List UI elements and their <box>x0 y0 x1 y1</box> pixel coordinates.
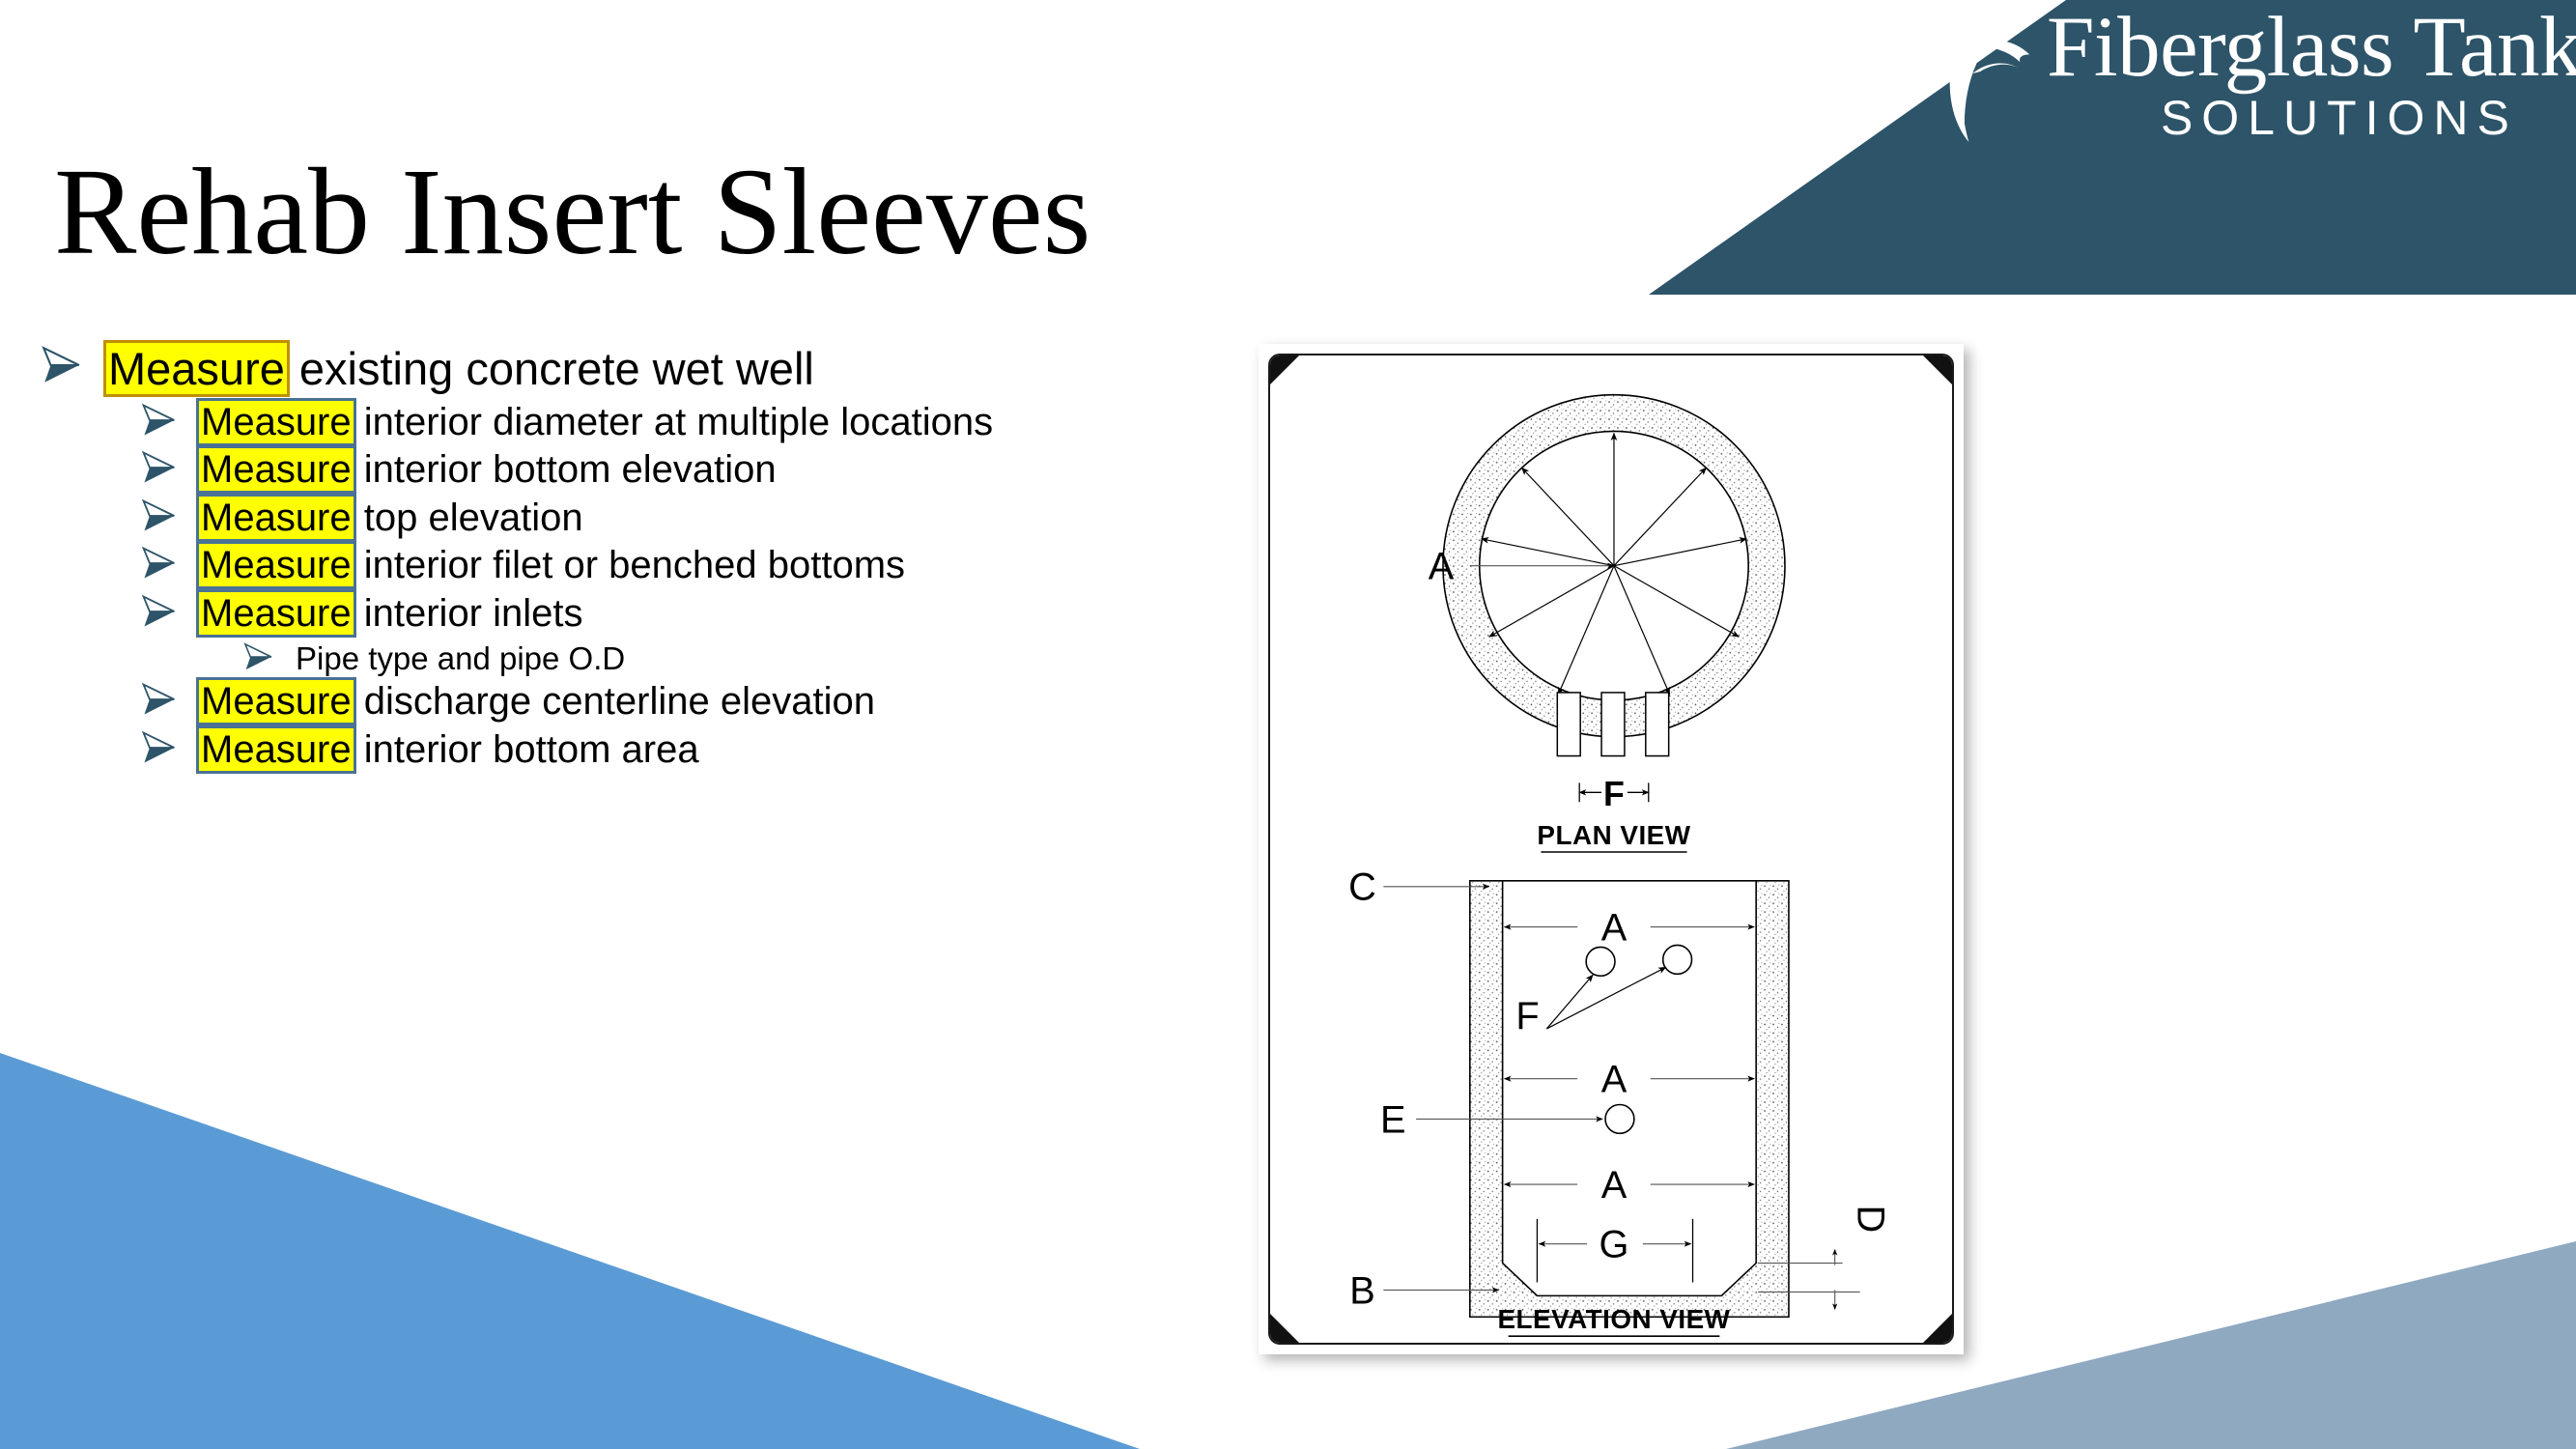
bullet-item-label: Measure interior diameter at multiple lo… <box>199 401 993 445</box>
fiberglass-tank-leaf-icon <box>1931 12 2045 147</box>
logo-secondary-text: SOLUTIONS <box>2161 94 2518 142</box>
bullet-item-rest: Pipe type and pipe O.D <box>296 640 625 676</box>
bullet-item-rest: interior diameter at multiple locations <box>354 401 994 443</box>
highlighted-keyword: Measure <box>199 680 354 723</box>
elevation-label-filet: D <box>1850 1205 1892 1233</box>
bullet-item-label: Measure interior filet or benched bottom… <box>199 544 905 588</box>
logo-primary-text: Fiberglass Tank <box>2047 4 2576 92</box>
bullet-item-label: Pipe type and pipe O.D <box>296 640 625 677</box>
highlighted-keyword: Measure <box>199 448 354 491</box>
highlighted-keyword: Measure <box>199 497 354 539</box>
company-logo: Fiberglass Tank SOLUTIONS <box>1931 4 2576 147</box>
highlighted-keyword: Measure <box>199 544 354 586</box>
bullet-item-rest: discharge centerline elevation <box>354 680 875 723</box>
plan-label-pipe-width: F <box>1603 775 1625 813</box>
bullet-item: Measure interior filet or benched bottom… <box>39 544 1207 588</box>
elevation-label-diameter-1: A <box>1601 906 1628 949</box>
bullet-item: Measure interior bottom area <box>39 728 1207 773</box>
highlighted-keyword: Measure <box>199 592 354 635</box>
elevation-view-caption: ELEVATION VIEW <box>1498 1304 1731 1334</box>
bullet-item: Measure top elevation <box>39 497 1207 541</box>
bullet-item: Measure interior bottom elevation <box>39 448 1207 493</box>
bullet-item: Measure interior diameter at multiple lo… <box>39 401 1207 445</box>
slide-title: Rehab Insert Sleeves <box>54 147 1090 278</box>
highlighted-keyword: Measure <box>199 401 354 443</box>
bullet-item: Measure existing concrete wet well <box>39 343 1207 395</box>
bullet-arrow-icon <box>39 343 106 387</box>
bullet-arrow-icon <box>139 680 199 719</box>
bullet-item-rest: top elevation <box>354 497 583 539</box>
elevation-view-group: C B A <box>1348 867 1891 1336</box>
slide-canvas: Fiberglass Tank SOLUTIONS Rehab Insert S… <box>0 0 2576 1449</box>
bullet-item-label: Measure discharge centerline elevation <box>199 680 875 724</box>
bullet-item: Measure interior inlets <box>39 592 1207 637</box>
bullet-item-label: Measure interior bottom area <box>199 728 699 773</box>
plan-view-group: A F PLAN VIEW <box>1429 395 1785 852</box>
bullet-list: Measure existing concrete wet wellMeasur… <box>39 343 1207 776</box>
bullet-arrow-icon <box>139 497 199 535</box>
elevation-label-top: C <box>1348 867 1376 909</box>
bullet-arrow-icon <box>139 448 199 487</box>
highlighted-keyword: Measure <box>106 343 287 394</box>
elevation-label-inlets: F <box>1515 995 1539 1037</box>
elevation-label-bottom: B <box>1349 1269 1375 1312</box>
plan-label-diameter: A <box>1429 546 1455 588</box>
bullet-arrow-icon <box>139 401 199 440</box>
wet-well-diagram-image: A F PLAN VIEW <box>1259 344 1964 1354</box>
plan-view-caption: PLAN VIEW <box>1537 820 1690 850</box>
bottom-left-triangle-shape <box>0 1053 1140 1449</box>
bullet-arrow-icon <box>139 592 199 631</box>
bullet-item-rest: interior inlets <box>354 592 583 635</box>
bullet-item-rest: existing concrete wet well <box>287 343 814 394</box>
bullet-arrow-icon <box>139 544 199 582</box>
highlighted-keyword: Measure <box>199 728 354 771</box>
bullet-item-rest: interior bottom elevation <box>354 448 777 491</box>
bullet-item: Pipe type and pipe O.D <box>39 640 1207 677</box>
bullet-item: Measure discharge centerline elevation <box>39 680 1207 724</box>
wet-well-technical-drawing: A F PLAN VIEW <box>1270 355 1952 1343</box>
elevation-label-diameter-2: A <box>1601 1059 1628 1101</box>
diagram-frame: A F PLAN VIEW <box>1268 354 1954 1345</box>
bullet-item-label: Measure existing concrete wet well <box>106 343 814 395</box>
elevation-label-discharge: E <box>1380 1098 1406 1141</box>
bullet-item-rest: interior bottom area <box>354 728 699 771</box>
bullet-item-label: Measure interior inlets <box>199 592 583 637</box>
bullet-item-rest: interior filet or benched bottoms <box>354 544 905 586</box>
logo-text-block: Fiberglass Tank SOLUTIONS <box>2047 4 2576 142</box>
bullet-arrow-icon <box>241 640 296 673</box>
elevation-label-diameter-3: A <box>1601 1164 1628 1207</box>
bullet-arrow-icon <box>139 728 199 767</box>
elevation-label-bottom-area: G <box>1599 1224 1629 1266</box>
bullet-item-label: Measure top elevation <box>199 497 583 541</box>
bullet-item-label: Measure interior bottom elevation <box>199 448 777 493</box>
